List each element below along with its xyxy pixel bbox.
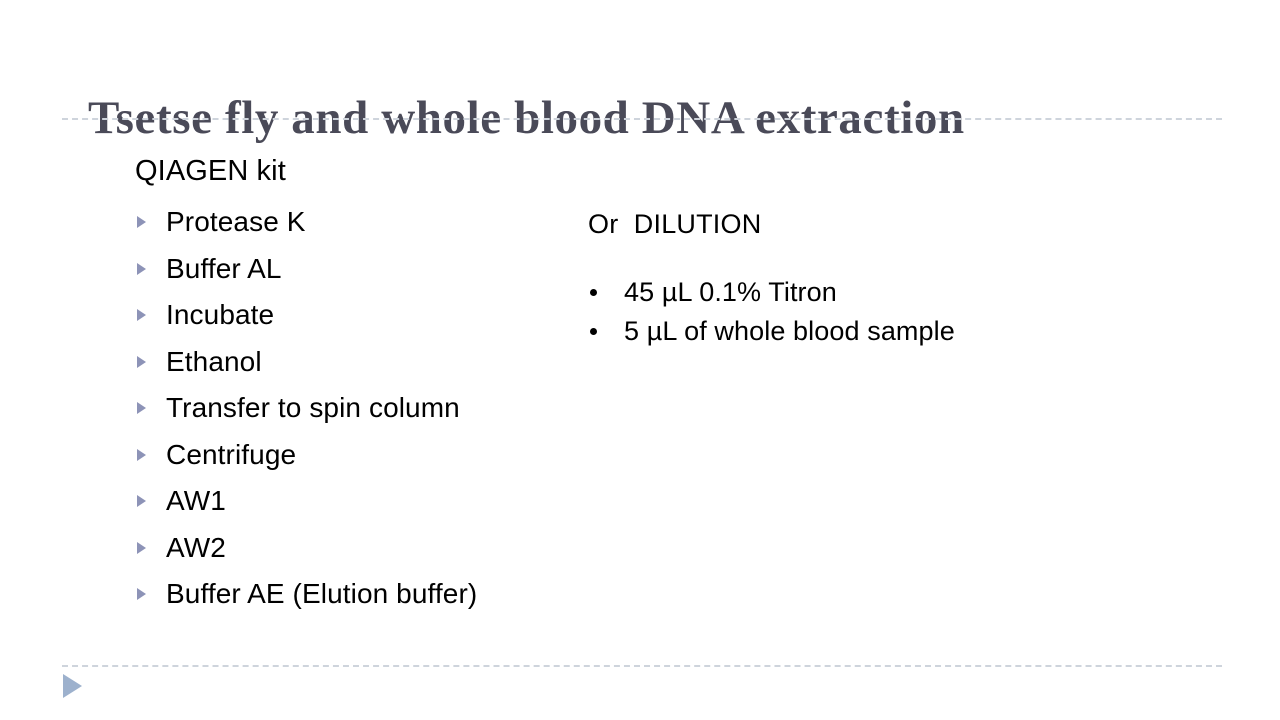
list-item-label: Protease K [166,206,306,237]
left-content-column: QIAGEN kit Protease K Buffer AL Incubate… [135,152,565,618]
list-item[interactable]: AW2 [135,525,565,572]
disc-bullet-icon [590,289,597,296]
list-item[interactable]: Transfer to spin column [135,385,565,432]
triangle-right-icon [137,402,146,414]
list-item-label: Buffer AL [166,253,282,284]
list-item-label: AW1 [166,485,226,516]
dilution-heading: Or DILUTION [588,206,1148,242]
list-item[interactable]: Centrifuge [135,432,565,479]
list-item-label: Transfer to spin column [166,392,460,423]
slide-canvas: Tsetse fly and whole blood DNA extractio… [0,0,1280,720]
qiagen-kit-heading: QIAGEN kit [135,152,565,190]
disc-bullet-icon [590,328,597,335]
next-slide-triangle-right-icon[interactable] [63,674,82,698]
list-item-label: Centrifuge [166,439,296,470]
right-content-column: Or DILUTION 45 µL 0.1% Titron 5 µL of wh… [588,206,1148,351]
triangle-right-icon [137,216,146,228]
triangle-right-icon [137,309,146,321]
triangle-right-icon [137,542,146,554]
list-item-label: Incubate [166,299,274,330]
list-item-label: 45 µL 0.1% Titron [624,277,837,307]
triangle-right-icon [137,263,146,275]
triangle-right-icon [137,356,146,368]
title-divider-top [62,118,1222,120]
list-item[interactable]: Buffer AE (Elution buffer) [135,571,565,618]
footer-divider-bottom [62,665,1222,667]
list-item[interactable]: 5 µL of whole blood sample [588,312,1148,351]
list-item-label: Buffer AE (Elution buffer) [166,578,477,609]
list-item[interactable]: Protease K [135,199,565,246]
triangle-right-icon [137,495,146,507]
triangle-right-icon [137,449,146,461]
list-item[interactable]: AW1 [135,478,565,525]
qiagen-steps-list: Protease K Buffer AL Incubate Ethanol Tr… [135,199,565,618]
list-item[interactable]: Ethanol [135,339,565,386]
triangle-right-icon [137,588,146,600]
dilution-steps-list: 45 µL 0.1% Titron 5 µL of whole blood sa… [588,273,1148,351]
list-item[interactable]: 45 µL 0.1% Titron [588,273,1148,312]
list-item-label: Ethanol [166,346,262,377]
list-item-label: AW2 [166,532,226,563]
list-item[interactable]: Incubate [135,292,565,339]
list-item[interactable]: Buffer AL [135,246,565,293]
list-item-label: 5 µL of whole blood sample [624,316,955,346]
